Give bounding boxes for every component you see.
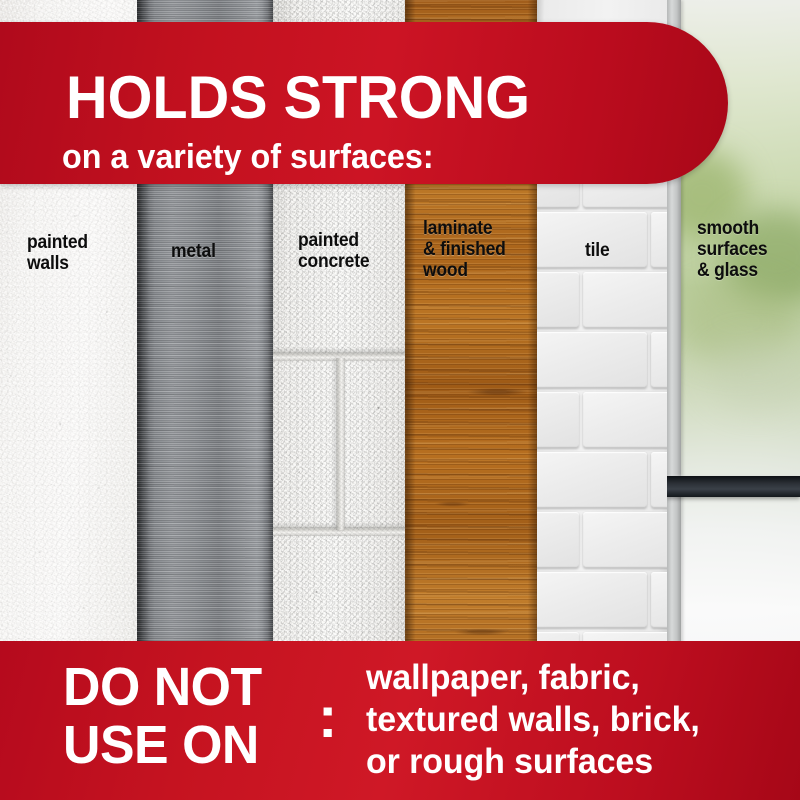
tile-unit: [537, 572, 647, 628]
mortar-joint-horizontal: [273, 527, 405, 536]
tile-unit: [537, 272, 579, 328]
tile-unit: [583, 512, 667, 568]
surface-label-tile: tile: [585, 240, 610, 261]
tile-unit: [537, 452, 647, 508]
do-not-use-banner: DO NOT USE ON : wallpaper, fabric, textu…: [0, 641, 800, 800]
surface-compatibility-infographic: painted walls metal painted concrete lam…: [0, 0, 800, 800]
holds-strong-banner: HOLDS STRONG on a variety of surfaces:: [0, 22, 728, 184]
tile-unit: [651, 572, 667, 628]
foliage-blur: [707, 340, 800, 410]
surface-label-painted-concrete: painted concrete: [298, 230, 369, 272]
surface-label-laminate-wood: laminate & finished wood: [423, 218, 506, 281]
tile-unit: [537, 512, 579, 568]
tile-unit: [651, 332, 667, 388]
mortar-joint-vertical: [336, 358, 345, 530]
page-title: HOLDS STRONG: [66, 68, 530, 128]
tile-unit: [651, 212, 667, 268]
tile-unit: [583, 392, 667, 448]
window-mullion: [667, 476, 800, 497]
do-not-use-colon: :: [318, 689, 337, 747]
tile-unit: [651, 452, 667, 508]
excluded-surfaces-list: wallpaper, fabric, textured walls, brick…: [366, 657, 700, 783]
mortar-joint-horizontal: [273, 352, 405, 361]
tile-unit: [583, 272, 667, 328]
do-not-use-label: DO NOT USE ON: [63, 658, 262, 774]
surface-label-metal: metal: [171, 241, 216, 262]
tile-unit: [537, 332, 647, 388]
surface-label-smooth-glass: smooth surfaces & glass: [697, 218, 767, 281]
page-subtitle: on a variety of surfaces:: [62, 140, 434, 174]
surface-label-painted-walls: painted walls: [27, 232, 88, 274]
tile-unit: [537, 392, 579, 448]
